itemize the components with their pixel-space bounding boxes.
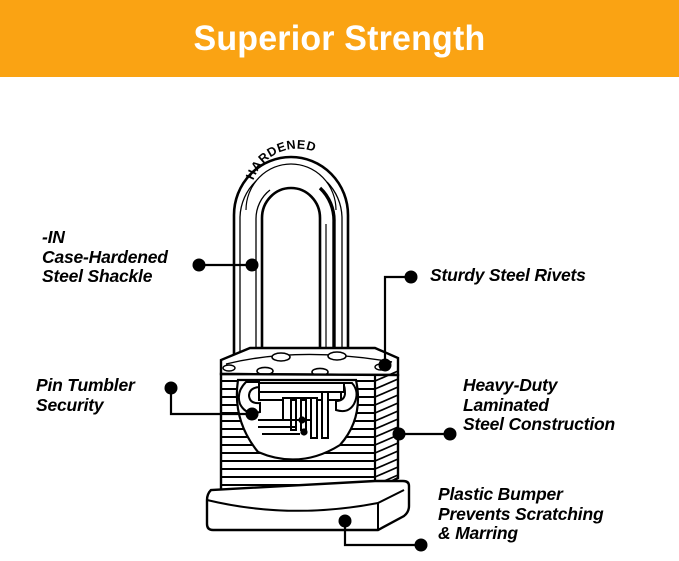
bolt-bar [259, 383, 344, 392]
pin-stack-2 [301, 400, 306, 430]
dot-rivets-target [379, 359, 392, 372]
pin-stack-3 [311, 398, 317, 438]
infographic-page: Superior Strength HARDENED [0, 0, 679, 561]
tumbler-dot-1 [299, 417, 304, 422]
rivet-boss-5 [223, 365, 235, 371]
rivet-boss-1 [272, 353, 290, 361]
dot-pin-tumbler-label [165, 382, 178, 395]
tumbler-dot-2 [301, 429, 306, 434]
shackle-inner-outline [262, 188, 320, 372]
dot-bumper-label [415, 539, 428, 552]
dot-heavy-duty-label [444, 428, 457, 441]
callout-label-heavy-duty-laminated-steel-construction: Heavy-Duty Laminated Steel Construction [463, 376, 615, 435]
pin-stack-1 [291, 400, 296, 430]
callout-label-sturdy-steel-rivets: Sturdy Steel Rivets [430, 266, 586, 286]
pin-stack-4 [322, 392, 328, 438]
dot-shackle-label [193, 259, 206, 272]
dot-heavy-duty-target [393, 428, 406, 441]
dot-shackle-target [246, 259, 259, 272]
lock-top-plate [221, 348, 398, 376]
laminated-body [221, 371, 398, 490]
dot-pin-tumbler-target [246, 408, 259, 421]
callout-label-pin-tumbler-security: Pin Tumbler Security [36, 376, 135, 415]
top-plate-outline [221, 348, 398, 375]
dot-rivets-label [405, 271, 418, 284]
plastic-bumper [207, 481, 409, 530]
callout-label-plastic-bumper: Plastic Bumper Prevents Scratching & Mar… [438, 485, 603, 544]
rivet-boss-2 [328, 352, 346, 360]
callout-label-case-hardened-shackle: -IN Case-Hardened Steel Shackle [42, 228, 168, 287]
dot-bumper-target [339, 515, 352, 528]
leader-rivets [385, 277, 410, 365]
